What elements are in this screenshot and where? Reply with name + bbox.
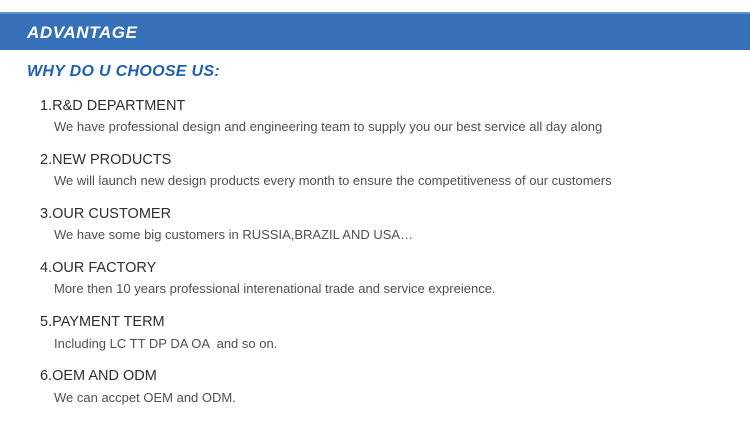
list-item: 1.R&D DEPARTMENT We have professional de… (0, 97, 750, 136)
item-description: More then 10 years professional interena… (54, 280, 750, 298)
advantage-content: WHY DO U CHOOSE US: 1.R&D DEPARTMENT We … (0, 50, 750, 406)
item-description: We can accpet OEM and ODM. (54, 389, 750, 407)
advantage-item-list: 1.R&D DEPARTMENT We have professional de… (0, 97, 750, 407)
list-item: 4.OUR FACTORY More then 10 years profess… (0, 259, 750, 298)
list-item: 5.PAYMENT TERM Including LC TT DP DA OA … (0, 313, 750, 352)
list-item: 6.OEM AND ODM We can accpet OEM and ODM. (0, 367, 750, 406)
item-title: 3.OUR CUSTOMER (40, 205, 750, 225)
section-subheading: WHY DO U CHOOSE US: (27, 63, 750, 81)
item-title: 6.OEM AND ODM (40, 367, 750, 387)
item-description: We have professional design and engineer… (54, 118, 750, 136)
item-title: 4.OUR FACTORY (40, 259, 750, 279)
item-title: 5.PAYMENT TERM (40, 313, 750, 333)
section-banner: ADVANTAGE (0, 12, 750, 50)
item-title: 2.NEW PRODUCTS (40, 151, 750, 171)
list-item: 3.OUR CUSTOMER We have some big customer… (0, 205, 750, 244)
item-description: Including LC TT DP DA OA and so on. (54, 335, 750, 353)
section-banner-title: ADVANTAGE (27, 24, 138, 41)
list-item: 2.NEW PRODUCTS We will launch new design… (0, 151, 750, 190)
item-description: We have some big customers in RUSSIA,BRA… (54, 226, 750, 244)
item-title: 1.R&D DEPARTMENT (40, 97, 750, 117)
item-description: We will launch new design products every… (54, 172, 750, 190)
advantage-page: ADVANTAGE WHY DO U CHOOSE US: 1.R&D DEPA… (0, 0, 750, 443)
